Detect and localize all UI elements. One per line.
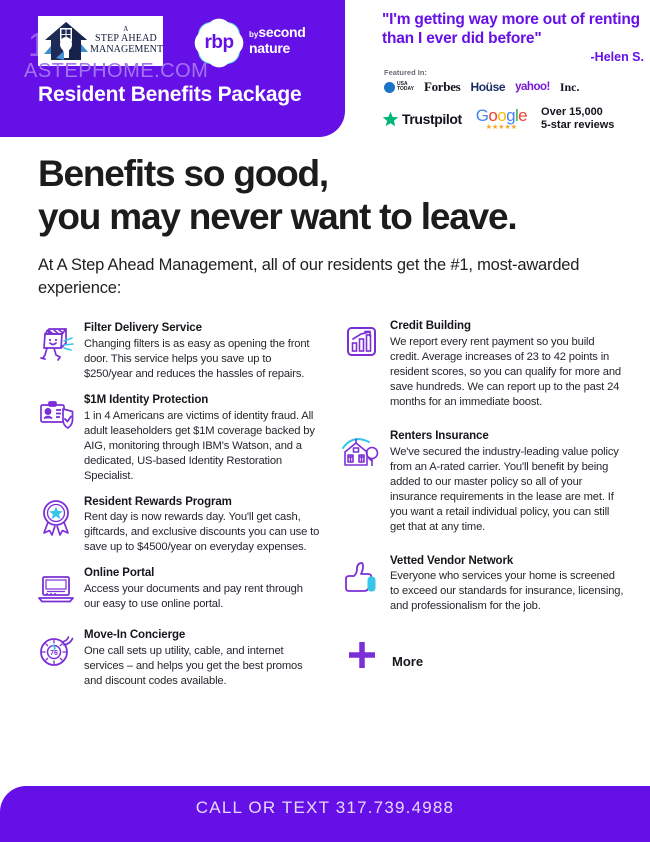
credit-chart-icon xyxy=(336,318,388,368)
headline-line-2: you may never want to leave. xyxy=(38,195,628,238)
inc-logo: Inc. xyxy=(560,80,580,95)
house-logo: Hoüse xyxy=(470,80,505,94)
by-prefix: by xyxy=(249,30,258,39)
benefit-description: 1 in 4 Americans are victims of identity… xyxy=(84,409,320,484)
benefit-text: Resident Rewards Program Rent day is now… xyxy=(82,494,320,556)
benefit-title: Vetted Vendor Network xyxy=(390,555,626,569)
testimonial-block: "I'm getting way more out of renting tha… xyxy=(382,10,644,64)
second-nature-brand: bysecond nature xyxy=(249,25,306,56)
usa-today-logo: USA TODAY xyxy=(384,82,414,93)
benefit-title: Credit Building xyxy=(390,320,626,334)
google-wordmark: Google xyxy=(476,107,527,124)
background-website-text: ASTEPHOME.COM xyxy=(24,60,208,83)
logo-line-3: MANAGEMENT xyxy=(90,45,162,55)
logo-line-1: A xyxy=(90,26,162,33)
benefit-title: Online Portal xyxy=(84,567,320,581)
benefit-item: Resident Rewards Program Rent day is now… xyxy=(30,494,320,556)
google-letter-e: e xyxy=(518,106,527,125)
usa-today-line-2: TODAY xyxy=(397,87,414,92)
flyer-page: 119 Dr A STEP AHEAD MANAGEMENT ASTEPHOME… xyxy=(0,0,650,842)
benefit-title: Renters Insurance xyxy=(390,430,626,444)
benefit-title: Move-In Concierge xyxy=(84,629,320,643)
benefit-item: Filter Delivery Service Changing filters… xyxy=(30,320,320,382)
testimonial-author: -Helen S. xyxy=(382,50,644,64)
benefit-description: We report every rent payment so you buil… xyxy=(390,335,626,410)
benefit-description: Changing filters is as easy as opening t… xyxy=(84,337,320,382)
testimonial-quote: "I'm getting way more out of renting tha… xyxy=(382,10,644,48)
usa-today-dot-icon xyxy=(384,82,395,93)
more-item: More xyxy=(336,636,626,686)
benefit-title: Resident Rewards Program xyxy=(84,496,320,510)
company-logo: A STEP AHEAD MANAGEMENT xyxy=(38,16,163,66)
forbes-logo: Forbes xyxy=(424,79,460,95)
usa-today-wordmark: USA TODAY xyxy=(397,82,414,93)
benefit-text: Filter Delivery Service Changing filters… xyxy=(82,320,320,382)
benefit-item: Vetted Vendor Network Everyone who servi… xyxy=(336,553,626,615)
benefit-text: Online Portal Access your documents and … xyxy=(82,565,320,612)
thumbs-up-icon xyxy=(336,553,388,603)
sub-headline: At A Step Ahead Management, all of our r… xyxy=(38,254,598,301)
benefit-text: Renters Insurance We've secured the indu… xyxy=(388,428,626,535)
benefit-item: $1M Identity Protection 1 in 4 Americans… xyxy=(30,392,320,484)
benefit-description: Access your documents and pay rent throu… xyxy=(84,582,320,612)
benefit-item: Credit Building We report every rent pay… xyxy=(336,318,626,410)
benefit-title: Filter Delivery Service xyxy=(84,322,320,336)
benefit-description: Rent day is now rewards day. You'll get … xyxy=(84,510,320,555)
brand-line-2: nature xyxy=(249,41,306,55)
star-icon xyxy=(382,111,399,128)
brand-line-1: second xyxy=(258,24,305,40)
rbp-label: rbp xyxy=(192,16,246,70)
concierge-clock-icon: 76 xyxy=(30,627,82,677)
laptop-icon xyxy=(30,565,82,615)
house-icon xyxy=(42,18,90,64)
reviews-line-2: 5-star reviews xyxy=(541,119,614,132)
benefits-column-left: Filter Delivery Service Changing filters… xyxy=(30,320,320,689)
page-title: Resident Benefits Package xyxy=(38,83,301,107)
rbp-badge: rbp xyxy=(192,16,246,70)
more-label: More xyxy=(388,654,423,669)
featured-in-label: Featured In: xyxy=(384,68,427,77)
contact-phone[interactable]: CALL OR TEXT 317.739.4988 xyxy=(0,798,650,818)
reviews-count: Over 15,000 5-star reviews xyxy=(541,106,614,132)
benefit-text: Move-In Concierge One call sets up utili… xyxy=(82,627,320,689)
benefit-item: 76 Move-In Concierge One cal xyxy=(30,627,320,689)
trustpilot-logo: Trustpilot xyxy=(382,111,462,128)
yahoo-logo: yahoo! xyxy=(515,81,550,93)
main-headline: Benefits so good, you may never want to … xyxy=(38,152,628,239)
benefits-column-right: Credit Building We report every rent pay… xyxy=(336,318,626,686)
review-logos-row: Trustpilot Google ★★★★★ Over 15,000 5-st… xyxy=(382,104,648,134)
plus-icon xyxy=(336,636,388,686)
benefit-description: We've secured the industry-leading value… xyxy=(390,445,626,535)
benefit-text: $1M Identity Protection 1 in 4 Americans… xyxy=(82,392,320,484)
benefit-text: Vetted Vendor Network Everyone who servi… xyxy=(388,553,626,615)
benefit-text: Credit Building We report every rent pay… xyxy=(388,318,626,410)
benefit-description: Everyone who services your home is scree… xyxy=(390,569,626,614)
identity-protection-icon xyxy=(30,392,82,442)
logo-line-2: STEP AHEAD xyxy=(90,34,162,44)
renters-insurance-house-icon xyxy=(336,428,388,478)
benefit-item: Online Portal Access your documents and … xyxy=(30,565,320,615)
google-logo: Google ★★★★★ xyxy=(476,107,527,131)
headline-line-1: Benefits so good, xyxy=(38,152,628,195)
benefit-description: One call sets up utility, cable, and int… xyxy=(84,644,320,689)
rewards-badge-icon xyxy=(30,494,82,544)
footer-bar: CALL OR TEXT 317.739.4988 xyxy=(0,786,650,842)
reviews-line-1: Over 15,000 xyxy=(541,106,614,119)
press-logos-row: USA TODAY Forbes Hoüse yahoo! Inc. xyxy=(384,78,646,96)
svg-text:76: 76 xyxy=(50,650,58,657)
benefit-item: Renters Insurance We've secured the indu… xyxy=(336,428,626,535)
logo-wordmark: A STEP AHEAD MANAGEMENT xyxy=(90,26,162,55)
trustpilot-label: Trustpilot xyxy=(402,111,462,127)
filter-delivery-icon xyxy=(30,320,82,370)
benefit-title: $1M Identity Protection xyxy=(84,394,320,408)
